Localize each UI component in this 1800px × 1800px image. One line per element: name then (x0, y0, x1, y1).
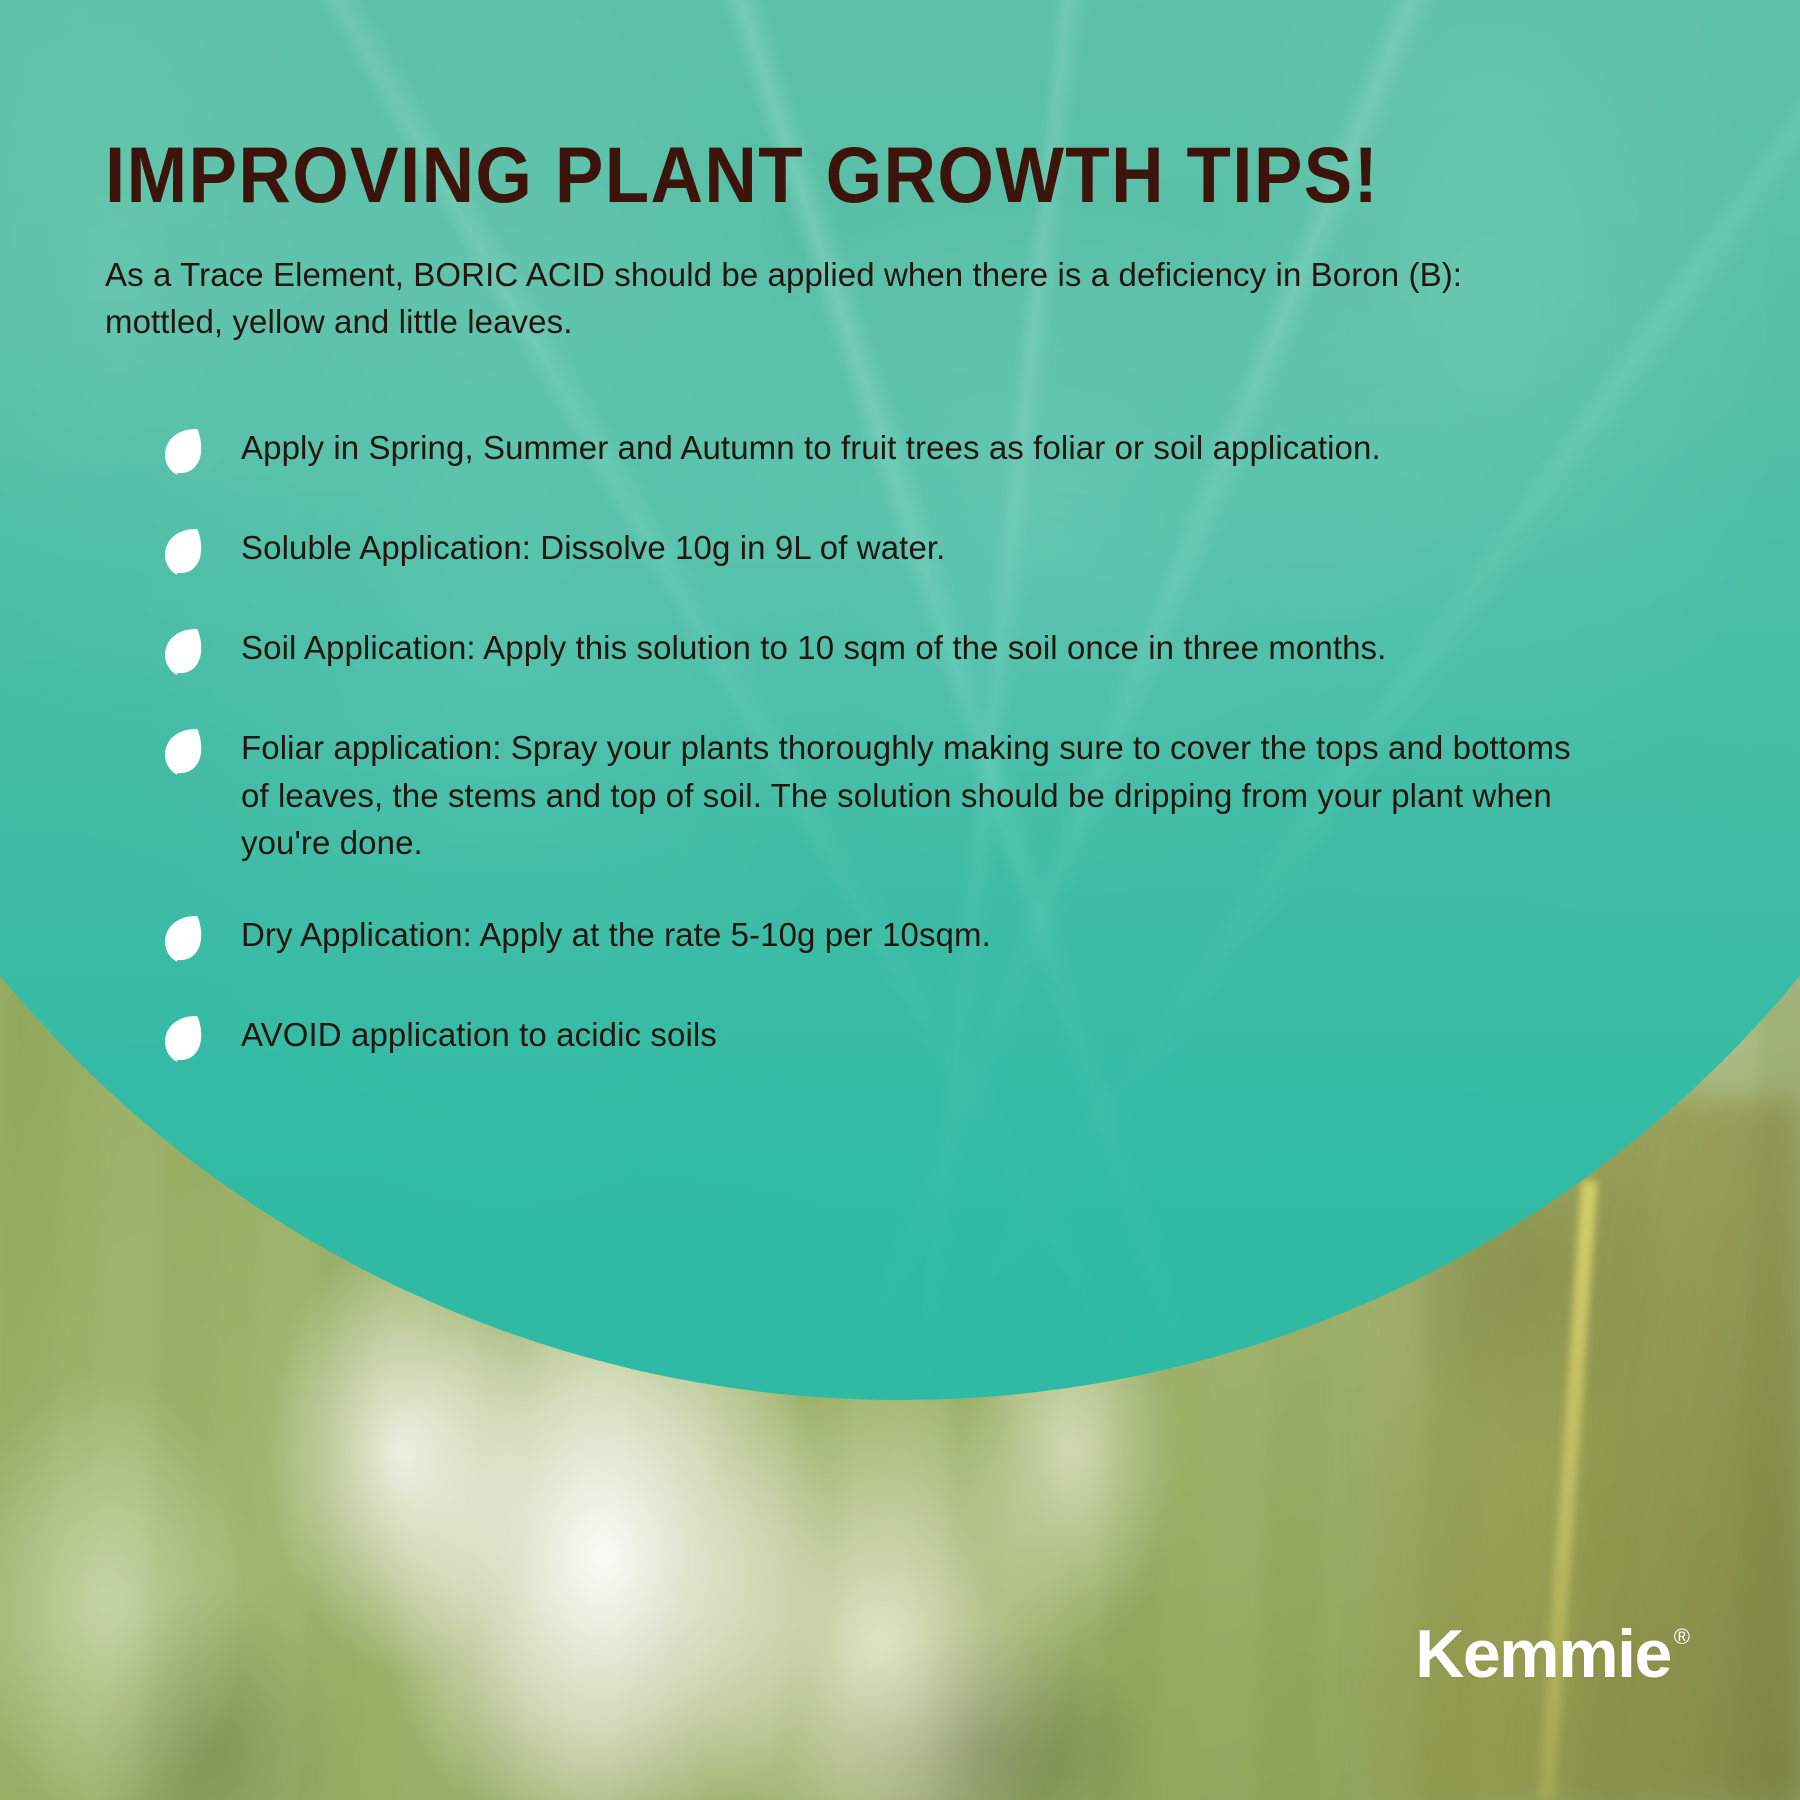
tip-text: Apply in Spring, Summer and Autumn to fr… (241, 424, 1381, 472)
tip-text: Soluble Application: Dissolve 10g in 9L … (241, 524, 945, 572)
list-item: Apply in Spring, Summer and Autumn to fr… (161, 424, 1695, 480)
tip-text: Foliar application: Spray your plants th… (241, 724, 1586, 868)
page-title: IMPROVING PLANT GROWTH TIPS! (105, 135, 1568, 214)
leaf-icon (161, 726, 205, 780)
list-item: AVOID application to acidic soils (161, 1011, 1695, 1067)
poster-root: IMPROVING PLANT GROWTH TIPS! As a Trace … (0, 0, 1800, 1800)
brand-name: Kemmie (1415, 1620, 1671, 1688)
leaf-icon (161, 1013, 205, 1067)
tip-text: Soil Application: Apply this solution to… (241, 624, 1386, 672)
tip-text: AVOID application to acidic soils (241, 1011, 717, 1059)
leaf-icon (161, 526, 205, 580)
registered-trademark-icon: ® (1674, 1626, 1690, 1648)
tips-list: Apply in Spring, Summer and Autumn to fr… (105, 424, 1695, 1068)
content-area: IMPROVING PLANT GROWTH TIPS! As a Trace … (0, 0, 1800, 1180)
leaf-icon (161, 626, 205, 680)
leaf-icon (161, 426, 205, 480)
list-item: Soil Application: Apply this solution to… (161, 624, 1695, 680)
tip-text: Dry Application: Apply at the rate 5-10g… (241, 911, 991, 959)
list-item: Dry Application: Apply at the rate 5-10g… (161, 911, 1695, 967)
list-item: Foliar application: Spray your plants th… (161, 724, 1695, 868)
list-item: Soluble Application: Dissolve 10g in 9L … (161, 524, 1695, 580)
brand-logo: Kemmie ® (1415, 1620, 1690, 1688)
intro-paragraph: As a Trace Element, BORIC ACID should be… (105, 252, 1575, 346)
leaf-icon (161, 913, 205, 967)
